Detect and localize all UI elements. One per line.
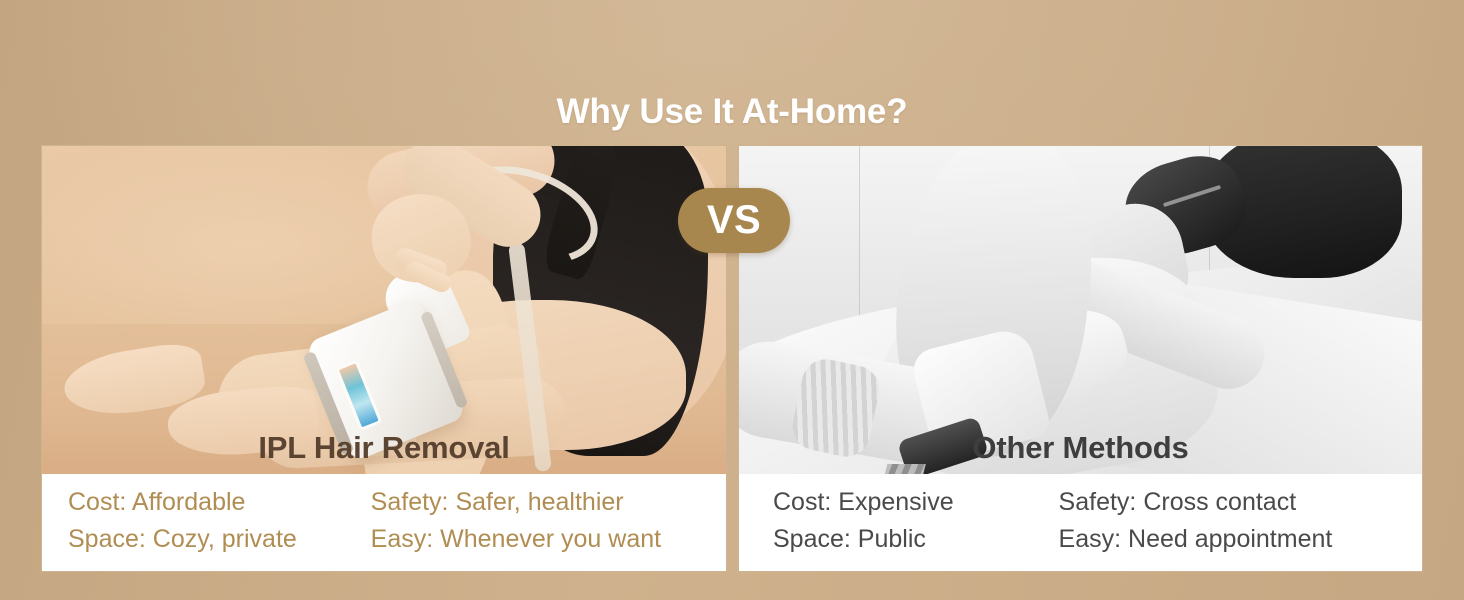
other-feature-grid: Cost: Expensive Safety: Cross contact Sp… [739,474,1422,571]
feature-safety: Safety: Safer, healthier [371,486,726,519]
ipl-feature-grid: Cost: Affordable Safety: Safer, healthie… [42,474,726,571]
clinic-photo: Other Methods [739,146,1422,474]
other-methods-caption: Other Methods [739,430,1422,466]
feature-cost: Cost: Expensive [773,486,1059,519]
feature-easy: Easy: Need appointment [1059,523,1422,556]
comparison-card-other: Other Methods Cost: Expensive Safety: Cr… [738,145,1423,572]
page-title: Why Use It At-Home? [0,88,1464,136]
feature-easy: Easy: Whenever you want [371,523,726,556]
vs-badge: VS [678,188,790,253]
feature-cost: Cost: Affordable [68,486,371,519]
ipl-caption: IPL Hair Removal [42,430,726,466]
feature-space: Space: Cozy, private [68,523,371,556]
feature-space: Space: Public [773,523,1059,556]
feature-safety: Safety: Cross contact [1059,486,1422,519]
comparison-card-ipl: IPL Hair Removal Cost: Affordable Safety… [41,145,727,572]
ipl-photo: IPL Hair Removal [42,146,726,474]
